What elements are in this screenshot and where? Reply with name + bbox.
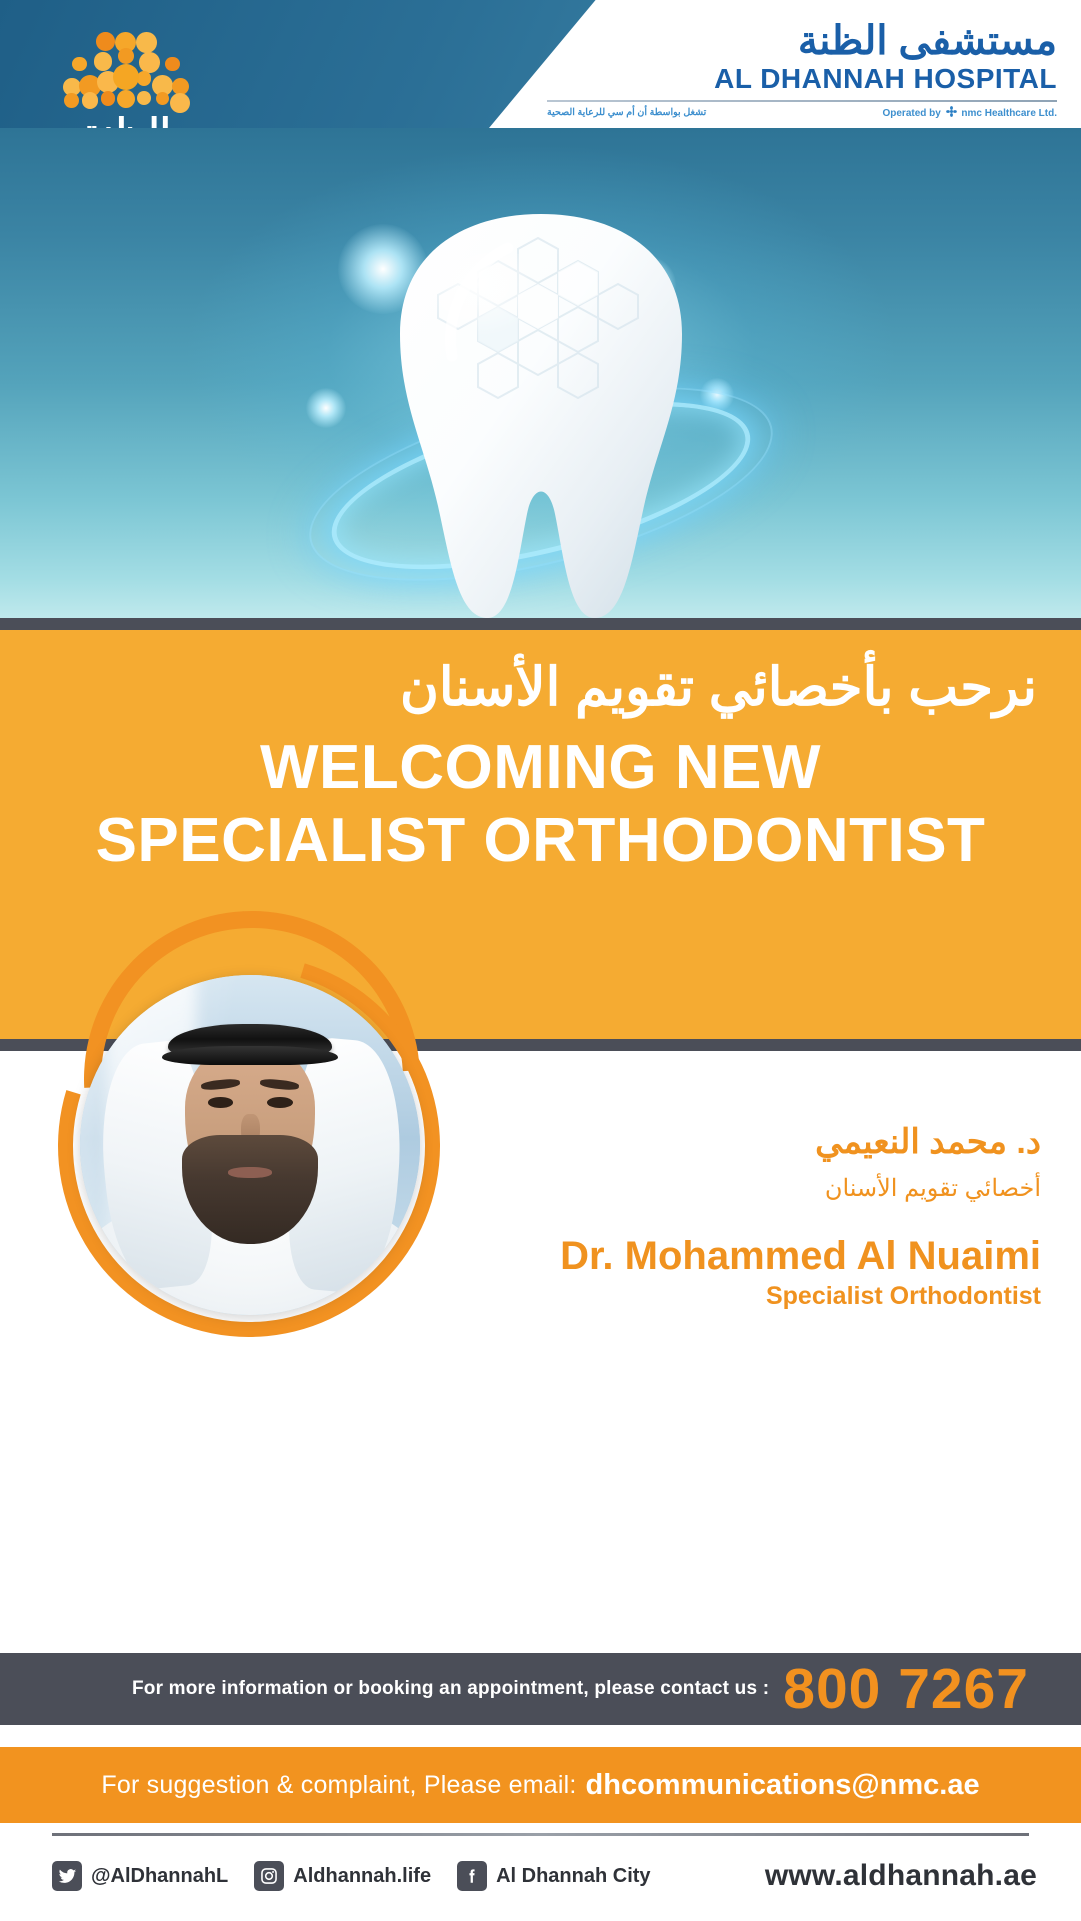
social-link-twitter[interactable]: @AlDhannahL bbox=[52, 1861, 228, 1891]
brand-divider bbox=[547, 100, 1057, 102]
headline-english-line1: WELCOMING NEW bbox=[0, 735, 1081, 802]
doctor-portrait-frame bbox=[32, 911, 452, 1351]
social-footer: @AlDhannahL Aldhannah.life Al Dhannah Ci… bbox=[0, 1823, 1081, 1921]
social-links: @AlDhannahL Aldhannah.life Al Dhannah Ci… bbox=[52, 1861, 651, 1891]
doctor-section: د. محمد النعيمي أخصائي تقويم الأسنان Dr.… bbox=[0, 1051, 1081, 1651]
doctor-arabic-specialty: أخصائي تقويم الأسنان bbox=[421, 1172, 1041, 1206]
portrait-agal-headband-lower bbox=[162, 1046, 339, 1065]
footer-divider bbox=[52, 1833, 1029, 1836]
page-header: الظنة AL DHANNAH مستشفى الظنة AL DHANNAH… bbox=[0, 0, 1081, 128]
social-link-facebook[interactable]: Al Dhannah City bbox=[457, 1861, 650, 1891]
logo-arabic-text: الظنة bbox=[36, 114, 216, 128]
hero-banner bbox=[0, 128, 1081, 618]
facebook-handle[interactable]: Al Dhannah City bbox=[496, 1865, 650, 1888]
brand-english-title: AL DHANNAH HOSPITAL bbox=[547, 64, 1057, 95]
instagram-icon[interactable] bbox=[254, 1861, 284, 1891]
email-label: For suggestion & complaint, Please email… bbox=[101, 1771, 576, 1800]
doctor-arabic-name: د. محمد النعيمي bbox=[421, 1121, 1041, 1164]
avatar bbox=[80, 975, 420, 1315]
instagram-handle[interactable]: Aldhannah.life bbox=[293, 1865, 431, 1888]
twitter-handle[interactable]: @AlDhannahL bbox=[91, 1865, 228, 1888]
doctor-info: د. محمد النعيمي أخصائي تقويم الأسنان Dr.… bbox=[421, 1121, 1041, 1311]
website-url[interactable]: www.aldhannah.ae bbox=[765, 1859, 1037, 1893]
doctor-english-name: Dr. Mohammed Al Nuaimi bbox=[421, 1233, 1041, 1279]
operated-by-row: تشغل بواسطة أن أم سي للرعاية الصحية Oper… bbox=[547, 106, 1057, 119]
doctor-english-specialty: Specialist Orthodontist bbox=[421, 1281, 1041, 1311]
operated-by-company: nmc Healthcare Ltd. bbox=[961, 108, 1057, 119]
contact-phone-number[interactable]: 800 7267 bbox=[783, 1661, 1029, 1718]
brand-arabic-title: مستشفى الظنة bbox=[547, 20, 1057, 62]
nmc-flower-icon bbox=[946, 106, 957, 117]
twitter-icon[interactable] bbox=[52, 1861, 82, 1891]
contact-bar: For more information or booking an appoi… bbox=[0, 1653, 1081, 1725]
sparkle-icon bbox=[306, 388, 346, 428]
tooth-illustration bbox=[382, 206, 700, 618]
operated-by-label: Operated by bbox=[882, 108, 940, 119]
headline-arabic: نرحب بأخصائي تقويم الأسنان bbox=[44, 658, 1037, 717]
headline-english-line2: SPECIALIST ORTHODONTIST bbox=[0, 808, 1081, 875]
dots-arc-icon bbox=[36, 28, 216, 120]
contact-label: For more information or booking an appoi… bbox=[132, 1678, 769, 1700]
social-link-instagram[interactable]: Aldhannah.life bbox=[254, 1861, 431, 1891]
operated-by-english-group: Operated by nmc Healthcare Ltd. bbox=[882, 106, 1057, 119]
email-address[interactable]: dhcommunications@nmc.ae bbox=[586, 1769, 980, 1802]
facebook-icon[interactable] bbox=[457, 1861, 487, 1891]
hospital-brand: مستشفى الظنة AL DHANNAH HOSPITAL تشغل بو… bbox=[547, 20, 1057, 119]
email-bar: For suggestion & complaint, Please email… bbox=[0, 1747, 1081, 1823]
portrait-eye-right bbox=[267, 1097, 293, 1108]
operated-by-arabic: تشغل بواسطة أن أم سي للرعاية الصحية bbox=[547, 107, 706, 118]
portrait-lips bbox=[228, 1167, 272, 1178]
al-dhannah-logo: الظنة AL DHANNAH bbox=[36, 28, 216, 128]
